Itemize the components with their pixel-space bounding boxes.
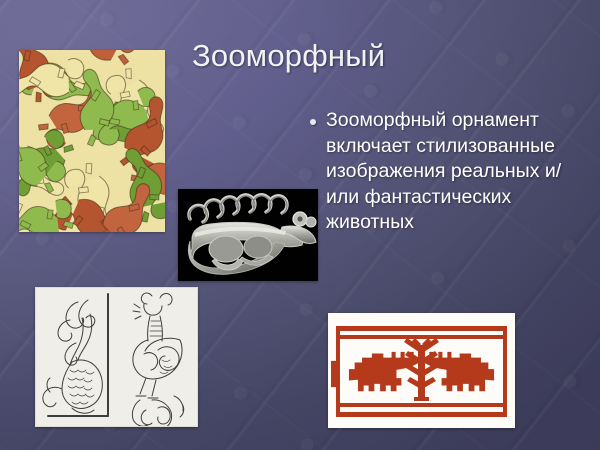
image-zoomorphic-ornament-sketch xyxy=(35,287,198,427)
image-scythian-stag-plaque xyxy=(178,189,318,281)
presentation-slide: Зооморфный Зооморфный орнамент включает … xyxy=(0,0,600,450)
tessellation-artwork xyxy=(19,50,165,232)
slide-title: Зооморфный xyxy=(192,38,582,74)
embroidery-artwork xyxy=(328,313,515,428)
sketch-artwork xyxy=(36,288,197,426)
bullet-item: Зооморфный орнамент включает стилизованн… xyxy=(310,108,580,236)
image-escher-lizard-tessellation xyxy=(19,50,165,232)
bullet-item-text: Зооморфный орнамент включает стилизованн… xyxy=(326,108,580,236)
slide-body: Зооморфный орнамент включает стилизованн… xyxy=(310,108,580,236)
image-horse-embroidery-band xyxy=(328,313,515,428)
bullet-dot-icon xyxy=(310,119,316,125)
stag-artwork xyxy=(178,189,318,281)
